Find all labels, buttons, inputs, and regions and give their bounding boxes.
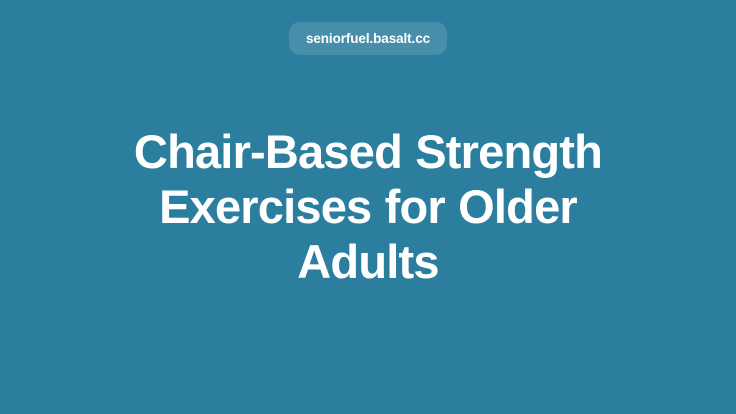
site-domain-badge[interactable]: seniorfuel.basalt.cc	[289, 22, 447, 55]
site-domain-label: seniorfuel.basalt.cc	[306, 32, 430, 46]
page-title: Chair-Based Strength Exercises for Older…	[133, 124, 603, 289]
badge-row: seniorfuel.basalt.cc	[0, 22, 736, 55]
hero-card: seniorfuel.basalt.cc Chair-Based Strengt…	[0, 0, 736, 414]
headline-container: Chair-Based Strength Exercises for Older…	[0, 124, 736, 289]
